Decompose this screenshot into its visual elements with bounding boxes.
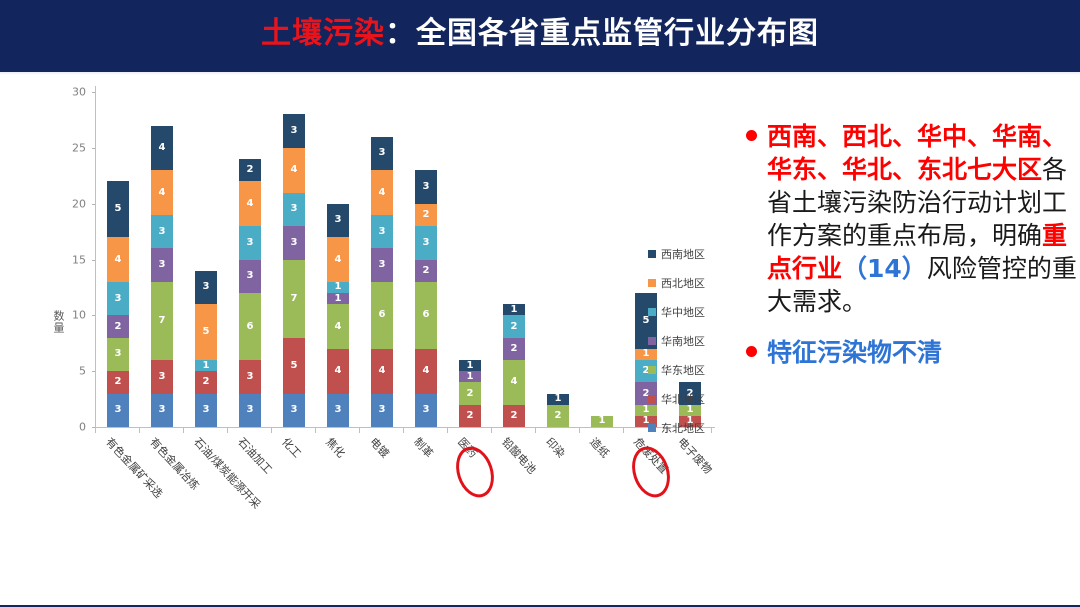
bullet-1-blue: （14）: [842, 254, 927, 283]
bar-segment: 2: [503, 405, 525, 427]
right-text-panel: 西南、西北、华中、华南、华东、华北、东北七大区各省土壤污染防治行动计划工作方案的…: [746, 120, 1080, 580]
x-tick-mark: [95, 428, 96, 433]
bar-石油加工[interactable]: 3363342: [239, 159, 261, 427]
legend-item-华北地区[interactable]: 华北地区: [648, 391, 738, 407]
bar-segment: 6: [239, 293, 261, 360]
x-tick-mark: [535, 428, 536, 433]
bar-segment: 3: [151, 215, 173, 249]
bar-segment: 5: [195, 304, 217, 360]
bar-segment: 3: [415, 170, 437, 204]
bar-印染[interactable]: 21: [547, 394, 569, 427]
bar-segment: 3: [283, 114, 305, 148]
legend-item-华东地区[interactable]: 华东地区: [648, 362, 738, 378]
x-tick-mark: [491, 428, 492, 433]
bar-segment: 4: [327, 304, 349, 349]
legend-swatch-icon: [648, 337, 656, 345]
bar-segment: 1: [195, 360, 217, 371]
bar-segment: 4: [151, 170, 173, 215]
bar-segment: 7: [151, 282, 173, 360]
bar-segment: 3: [283, 226, 305, 260]
bar-医药[interactable]: 2211: [459, 360, 481, 427]
bar-segment: 2: [459, 382, 481, 404]
bar-segment: 4: [327, 349, 349, 394]
x-tick-mark: [139, 428, 140, 433]
x-label-电镀: 电镀: [366, 434, 393, 461]
bar-segment: 1: [327, 282, 349, 293]
bar-segment: 3: [327, 204, 349, 238]
bar-segment: 3: [239, 394, 261, 428]
y-tick-label: 20: [62, 197, 86, 210]
bar-segment: 6: [371, 282, 393, 349]
bar-segment: 2: [415, 260, 437, 282]
bar-石油/煤炭能源开采[interactable]: 32153: [195, 271, 217, 427]
y-axis-ticks: 051015202530: [62, 86, 92, 433]
legend-label: 西南地区: [661, 246, 705, 262]
y-tick-label: 0: [62, 421, 86, 434]
y-tick-label: 25: [62, 141, 86, 154]
bar-segment: 4: [283, 148, 305, 193]
bar-segment: 4: [327, 237, 349, 282]
chart-legend: 西南地区西北地区华中地区华南地区华东地区华北地区东北地区: [648, 246, 738, 449]
bar-segment: 2: [239, 159, 261, 181]
bar-segment: 3: [371, 394, 393, 428]
bar-segment: 3: [371, 248, 393, 282]
legend-swatch-icon: [648, 250, 656, 258]
y-tick-label: 10: [62, 309, 86, 322]
bar-segment: 2: [503, 338, 525, 360]
x-tick-mark: [579, 428, 580, 433]
bar-segment: 3: [195, 394, 217, 428]
bar-segment: 3: [327, 394, 349, 428]
bar-segment: 4: [371, 349, 393, 394]
legend-item-华南地区[interactable]: 华南地区: [648, 333, 738, 349]
bar-segment: 4: [107, 237, 129, 282]
x-label-石油加工: 石油加工: [234, 434, 276, 477]
title-highlight: 土壤污染: [261, 16, 385, 51]
legend-item-西北地区[interactable]: 西北地区: [648, 275, 738, 291]
bar-segment: 1: [459, 360, 481, 371]
x-label-印染: 印染: [542, 434, 569, 461]
bar-segment: 3: [107, 338, 129, 372]
legend-label: 华中地区: [661, 304, 705, 320]
bar-segment: 1: [547, 394, 569, 405]
bar-segment: 2: [459, 405, 481, 427]
legend-item-东北地区[interactable]: 东北地区: [648, 420, 738, 436]
bar-铅酸电池[interactable]: 24221: [503, 304, 525, 427]
bar-segment: 2: [107, 371, 129, 393]
legend-swatch-icon: [648, 395, 656, 403]
bar-segment: 1: [459, 371, 481, 382]
bar-segment: 3: [283, 394, 305, 428]
bar-segment: 6: [415, 282, 437, 349]
title-banner: 土壤污染：全国各省重点监管行业分布图: [0, 0, 1080, 68]
bar-segment: 3: [415, 394, 437, 428]
y-tick-label: 30: [62, 86, 86, 99]
bar-segment: 1: [591, 416, 613, 427]
bullet-dot-icon-2: [746, 346, 757, 357]
bullet-1-red-1: 西南、西北、华中、华南、华东、华北、东北七大区: [767, 122, 1067, 184]
x-tick-mark: [403, 428, 404, 433]
x-tick-mark: [359, 428, 360, 433]
x-tick-mark: [227, 428, 228, 433]
bar-segment: 3: [239, 360, 261, 394]
x-tick-mark: [623, 428, 624, 433]
banner-shadow: [0, 72, 1080, 75]
legend-label: 华东地区: [661, 362, 705, 378]
bullet-item-1: 西南、西北、华中、华南、华东、华北、东北七大区各省土壤污染防治行动计划工作方案的…: [746, 120, 1080, 318]
legend-label: 西北地区: [661, 275, 705, 291]
x-label-制革: 制革: [410, 434, 437, 461]
bar-制革[interactable]: 3462323: [415, 170, 437, 427]
bar-segment: 2: [195, 371, 217, 393]
chart-panel: 数量 051015202530 323234533733443215333633…: [0, 78, 745, 607]
plot-area: 3232345337334432153336334235733433441143…: [96, 92, 712, 427]
bar-造纸[interactable]: 1: [591, 416, 613, 427]
bullet-2-text: 特征污染物不清: [767, 336, 942, 369]
bar-segment: 3: [107, 394, 129, 428]
bar-segment: 2: [547, 405, 569, 427]
bar-segment: 3: [239, 226, 261, 260]
bullet-dot-icon: [746, 130, 757, 141]
x-tick-mark: [271, 428, 272, 433]
bar-segment: 3: [415, 226, 437, 260]
legend-item-华中地区[interactable]: 华中地区: [648, 304, 738, 320]
bar-segment: 4: [371, 170, 393, 215]
legend-label: 华北地区: [661, 391, 705, 407]
legend-swatch-icon: [648, 308, 656, 316]
x-label-焦化: 焦化: [322, 434, 349, 461]
x-tick-mark: [315, 428, 316, 433]
bar-segment: 4: [239, 181, 261, 226]
y-tick-label: 15: [62, 253, 86, 266]
x-label-化工: 化工: [278, 434, 305, 461]
x-tick-mark: [183, 428, 184, 433]
legend-label: 华南地区: [661, 333, 705, 349]
legend-item-西南地区[interactable]: 西南地区: [648, 246, 738, 262]
bar-segment: 2: [107, 315, 129, 337]
legend-label: 东北地区: [661, 420, 705, 436]
bar-segment: 3: [195, 271, 217, 305]
bar-segment: 7: [283, 260, 305, 338]
bar-segment: 5: [107, 181, 129, 237]
legend-swatch-icon: [648, 366, 656, 374]
x-label-铅酸电池: 铅酸电池: [498, 434, 540, 477]
bar-segment: 4: [415, 349, 437, 394]
legend-swatch-icon: [648, 424, 656, 432]
bar-电镀[interactable]: 3463343: [371, 137, 393, 427]
bar-segment: 3: [151, 360, 173, 394]
bar-有色金属冶炼[interactable]: 3373344: [151, 126, 173, 427]
x-axis-ticks: [95, 428, 715, 433]
x-label-造纸: 造纸: [586, 434, 613, 461]
bullet-1-text: 西南、西北、华中、华南、华东、华北、东北七大区各省土壤污染防治行动计划工作方案的…: [767, 120, 1080, 318]
bar-化工[interactable]: 3573343: [283, 114, 305, 427]
bar-segment: 2: [415, 204, 437, 226]
bar-有色金属矿采选[interactable]: 3232345: [107, 181, 129, 427]
bar-segment: 3: [239, 260, 261, 294]
bar-segment: 3: [151, 248, 173, 282]
bar-segment: 3: [371, 215, 393, 249]
page-title: 土壤污染：全国各省重点监管行业分布图: [261, 19, 819, 49]
bar-segment: 3: [371, 137, 393, 171]
bar-segment: 4: [151, 126, 173, 171]
bar-segment: 2: [503, 315, 525, 337]
bar-焦化[interactable]: 3441143: [327, 204, 349, 427]
y-tick-label: 5: [62, 365, 86, 378]
bar-segment: 4: [503, 360, 525, 405]
bar-segment: 3: [283, 193, 305, 227]
bar-segment: 3: [151, 394, 173, 428]
bar-segment: 3: [107, 282, 129, 316]
bullet-item-2: 特征污染物不清: [746, 336, 1080, 369]
title-rest: ：全国各省重点监管行业分布图: [385, 16, 819, 51]
x-tick-mark: [447, 428, 448, 433]
bar-segment: 5: [283, 338, 305, 394]
bar-segment: 1: [327, 293, 349, 304]
bar-segment: 1: [503, 304, 525, 315]
legend-swatch-icon: [648, 279, 656, 287]
